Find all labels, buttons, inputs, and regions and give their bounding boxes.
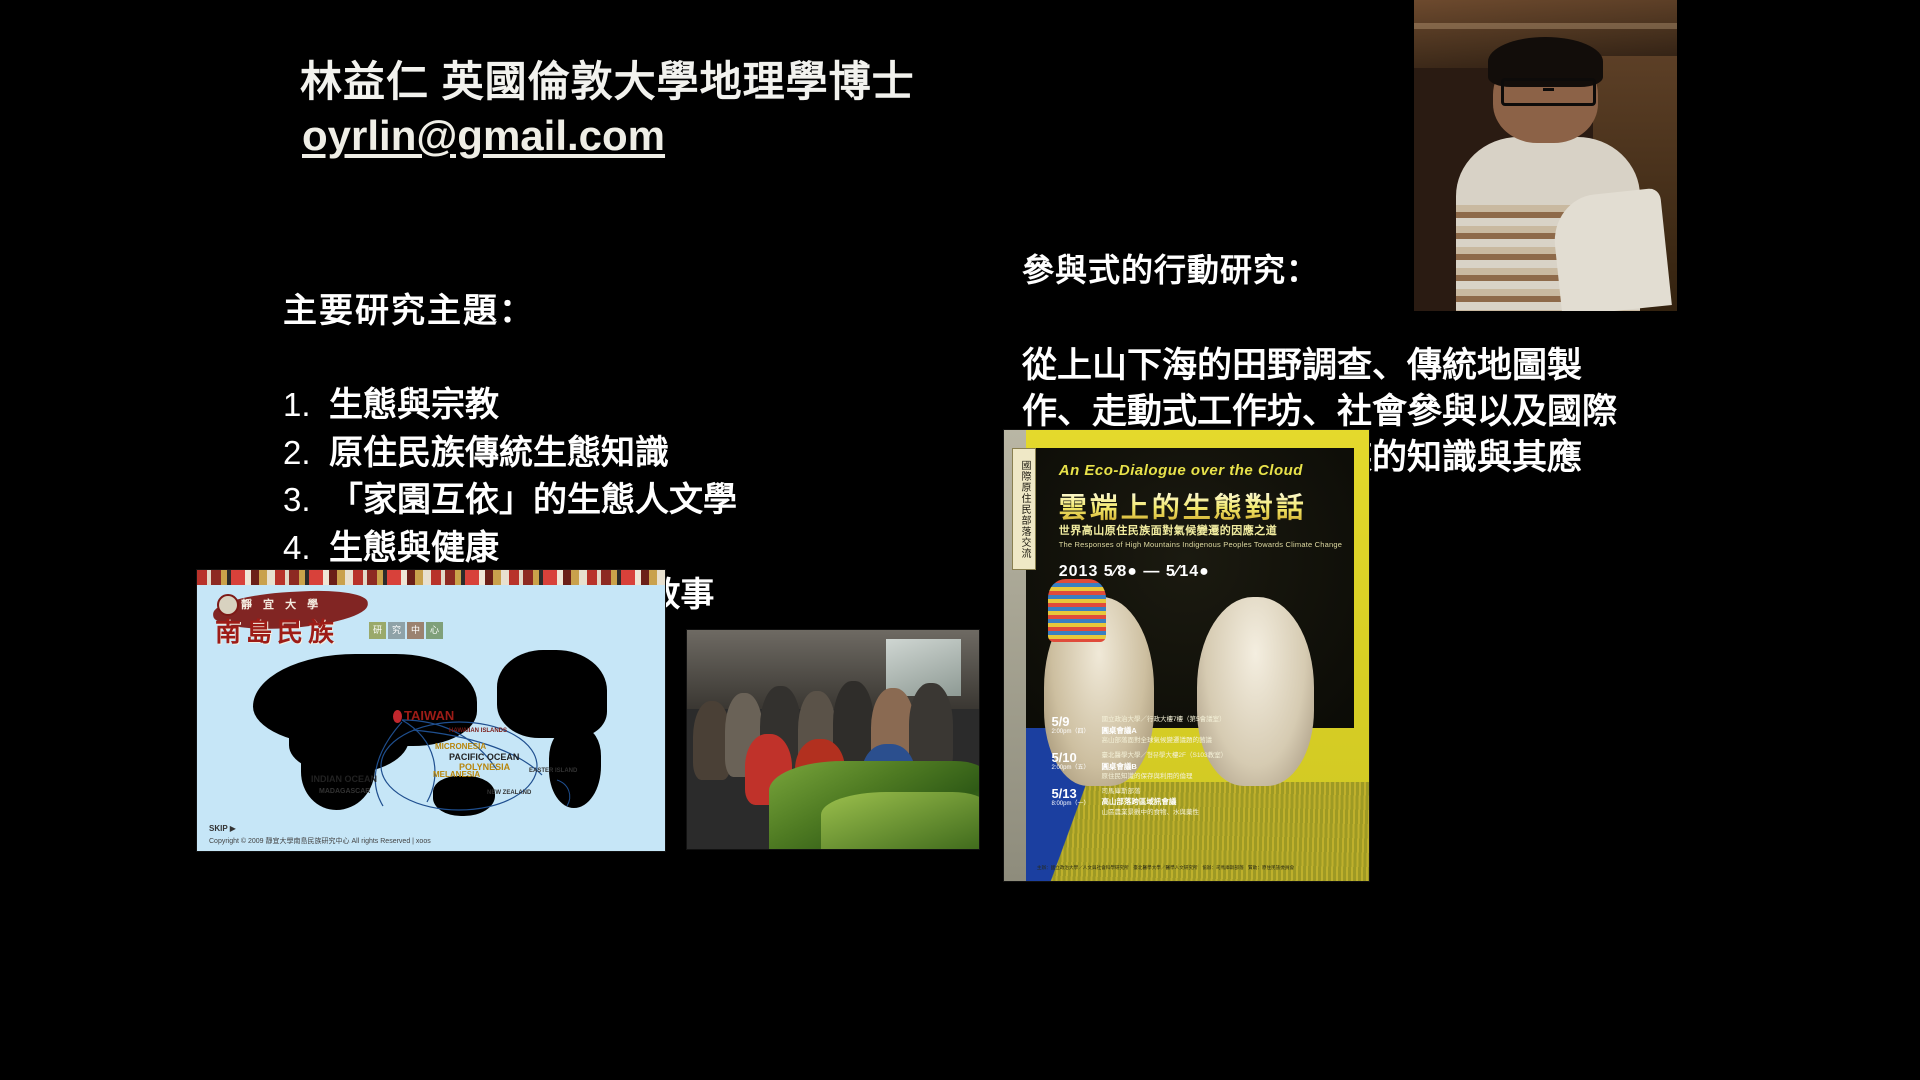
poster-schedule-venue: 國立政治大學／行政大樓7樓（第5會議室） (1101, 716, 1225, 723)
poster-subtitle-zh: 世界高山原住民族面對氣候變遷的因應之道 (1059, 522, 1358, 538)
list-item: 2. 原住民族傳統生態知識 (283, 432, 883, 476)
list-item: 3. 「家園互依」的生態人文學 (283, 479, 883, 523)
poster-schedule-date: 5/10 2:00pm（五） (1051, 751, 1095, 772)
presentation-slide: 林益仁 英國倫敦大學地理學博士 oyrlin@gmail.com 主要研究主題：… (0, 0, 1920, 1080)
poster-schedule-topic: 山區農業景觀中的食物、水與藥性 (1101, 809, 1199, 816)
poster-title-en: An Eco-Dialogue over the Cloud (1059, 462, 1351, 479)
map-skip-button[interactable]: SKIP ▶ (209, 824, 236, 833)
list-item-label: 生態與宗教 (329, 384, 499, 428)
poster-title-zh: 雲端上的生態對話 (1059, 486, 1358, 526)
poster-schedule-time: 2:00pm（四） (1051, 729, 1095, 736)
poster-schedule-date: 5/13 8:00pm（一） (1051, 787, 1095, 808)
poster-footer: 主辦：國立政治大學／人文與社會科學研究所 臺北醫學大學／醫學人文研究所 協辦：司… (1037, 865, 1351, 872)
poster-schedule-date-text: 5/9 (1051, 714, 1069, 729)
eco-dialogue-poster-image: 國際原住民部落交流 An Eco-Dialogue over the Cloud… (1003, 429, 1370, 882)
map-label-pacific-ocean: PACIFIC OCEAN (449, 752, 519, 762)
poster-schedule-row: 5/9 2:00pm（四） 國立政治大學／行政大樓7樓（第5會議室） 圓桌會議A… (1051, 715, 1328, 746)
poster-schedule-body: 國立政治大學／行政大樓7樓（第5會議室） 圓桌會議A 高山部落面對全球氣候變遷議… (1101, 715, 1225, 746)
list-item-number: 2. (283, 432, 329, 474)
poster-schedule-session: 高山部落跨區域訊會議 (1101, 796, 1199, 807)
poster-subtitle-en: The Responses of High Mountains Indigeno… (1059, 540, 1358, 549)
poster-schedule-body: 臺北醫學大學／형뷰學大樓2F（S103教室） 圓桌會議B 原住民知識的保存與利用… (1101, 751, 1227, 782)
email-link[interactable]: oyrlin@gmail.com (302, 112, 665, 160)
list-item: 1. 生態與宗教 (283, 384, 883, 428)
map-logo-title: 南島民族 (215, 612, 339, 649)
austronesian-migration-map-image: 靜 宜 大 學 南島民族 研 究 中 心 TAIWAN (196, 569, 666, 852)
research-topics-heading: 主要研究主題： (283, 283, 883, 332)
map-label-new-zealand: NEW ZEALAND (487, 790, 531, 796)
map-label-melanesia: MELANESIA (433, 770, 480, 779)
poster-schedule-venue: 司馬庫斯部落 (1101, 788, 1140, 795)
poster-date-range: 2013 5∕8● — 5∕14● (1059, 563, 1358, 581)
poster-sidebar-label: 國際原住民部落交流 (1012, 448, 1036, 570)
page-title: 林益仁 英國倫敦大學地理學博士 (300, 48, 915, 109)
map-label-easter-island: EASTER ISLAND (529, 768, 577, 774)
poster-schedule-date-text: 5/13 (1051, 786, 1076, 801)
action-research-heading: 參與式的行動研究： (1022, 245, 1642, 291)
map-label-madagascar: MADAGASCAR (319, 788, 370, 795)
poster-schedule-date-text: 5/10 (1051, 750, 1076, 765)
map-label-micronesia: MICRONESIA (435, 742, 486, 751)
list-item-number: 3. (283, 479, 329, 521)
list-item: 4. 生態與健康 (283, 527, 883, 571)
map-logo-sub-char: 中 (407, 622, 424, 639)
map-label-indian-ocean: INDIAN OCEAN (311, 774, 377, 784)
list-item-label: 「家園互依」的生態人文學 (329, 479, 737, 523)
map-logo-sub-char: 研 (369, 622, 386, 639)
poster-schedule: 5/9 2:00pm（四） 國立政治大學／行政大樓7樓（第5會議室） 圓桌會議A… (1051, 715, 1328, 822)
poster-schedule-time: 8:00pm（一） (1051, 801, 1095, 808)
poster-schedule-topic: 高山部落面對全球氣候變遷議題的莤議 (1101, 737, 1212, 744)
poster-schedule-row: 5/13 8:00pm（一） 司馬庫斯部落 高山部落跨區域訊會議 山區農業景觀中… (1051, 787, 1328, 818)
poster-figure-left-hat (1048, 579, 1106, 642)
map-logo-university: 靜 宜 大 學 (241, 596, 322, 612)
glasses-icon (1501, 78, 1596, 106)
poster-schedule-session: 圓桌會議A (1101, 725, 1225, 736)
list-item-number: 4. (283, 527, 329, 569)
poster-schedule-body: 司馬庫斯部落 高山部落跨區域訊會議 山區農業景觀中的食物、水與藥性 (1101, 787, 1199, 818)
workshop-relief-model-foreground (821, 792, 980, 849)
list-item-label: 原住民族傳統生態知識 (329, 432, 669, 476)
list-item-label: 生態與健康 (329, 527, 499, 571)
workshop-relief-model-photo (686, 629, 980, 850)
poster-schedule-time: 2:00pm（五） (1051, 765, 1095, 772)
poster-schedule-row: 5/10 2:00pm（五） 臺北醫學大學／형뷰學大樓2F（S103教室） 圓桌… (1051, 751, 1328, 782)
map-label-hawaii: HAWAIIAN ISLANDS (449, 728, 507, 734)
map-copyright: Copyright © 2009 靜宜大學南島民族研究中心 All rights… (209, 836, 431, 846)
poster-schedule-session: 圓桌會議B (1101, 761, 1227, 772)
poster-schedule-date: 5/9 2:00pm（四） (1051, 715, 1095, 736)
map-logo-sub-char: 心 (426, 622, 443, 639)
poster-schedule-topic: 原住民知識的保存與利用的倫理 (1101, 773, 1192, 780)
map-logo-subtitle: 研 究 中 心 (369, 622, 443, 639)
list-item-number: 1. (283, 384, 329, 426)
poster-schedule-venue: 臺北醫學大學／형뷰學大樓2F（S103教室） (1101, 752, 1227, 759)
map-label-taiwan: TAIWAN (404, 708, 454, 723)
map-logo-sub-char: 究 (388, 622, 405, 639)
